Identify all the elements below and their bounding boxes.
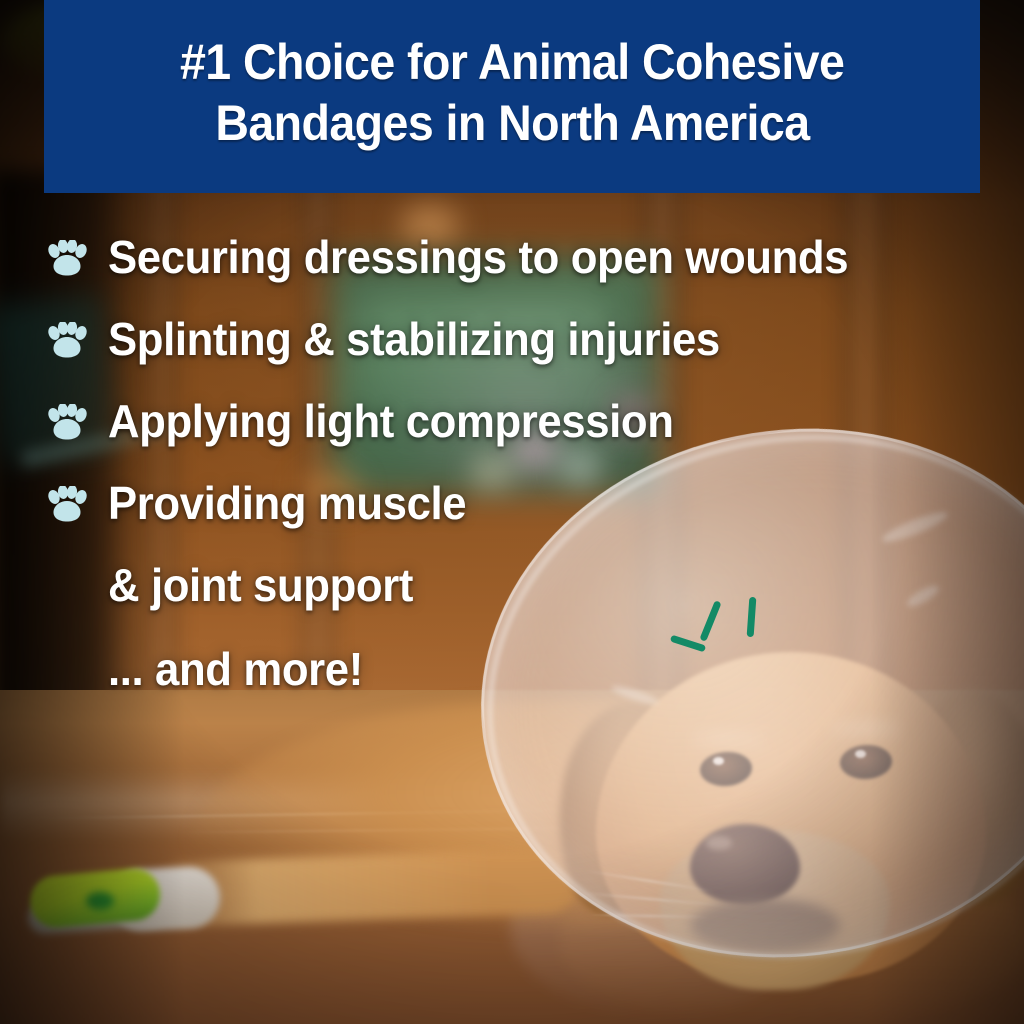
list-item: Providing muscle: [46, 474, 1006, 556]
list-item: Securing dressings to open wounds: [46, 228, 1006, 310]
headline-line-1: #1 Choice for Animal Cohesive: [180, 32, 844, 93]
paw-spacer: [46, 556, 108, 568]
headline-line-2: Bandages in North America: [215, 93, 809, 154]
headline-banner: #1 Choice for Animal Cohesive Bandages i…: [44, 0, 980, 193]
list-item: Applying light compression: [46, 392, 1006, 474]
list-item-continuation: & joint support: [46, 556, 1006, 626]
list-item: Splinting & stabilizing injuries: [46, 310, 1006, 392]
paw-bandage-accent: [86, 892, 114, 910]
paw-print-icon: [46, 474, 108, 524]
list-item-label: Securing dressings to open wounds: [108, 228, 848, 286]
paw-print-icon: [46, 310, 108, 360]
list-item-more: ... and more!: [46, 640, 1006, 710]
list-item-label: Providing muscle: [108, 474, 466, 532]
more-label: ... and more!: [108, 640, 363, 698]
promo-image: #1 Choice for Animal Cohesive Bandages i…: [0, 0, 1024, 1024]
paw-spacer: [46, 640, 108, 652]
paw-print-icon: [46, 392, 108, 442]
list-item-label: Splinting & stabilizing injuries: [108, 310, 720, 368]
list-item-label: & joint support: [108, 556, 413, 614]
benefits-list: Securing dressings to open wounds Splint…: [46, 228, 1006, 710]
paw-print-icon: [46, 228, 108, 278]
list-item-label: Applying light compression: [108, 392, 674, 450]
